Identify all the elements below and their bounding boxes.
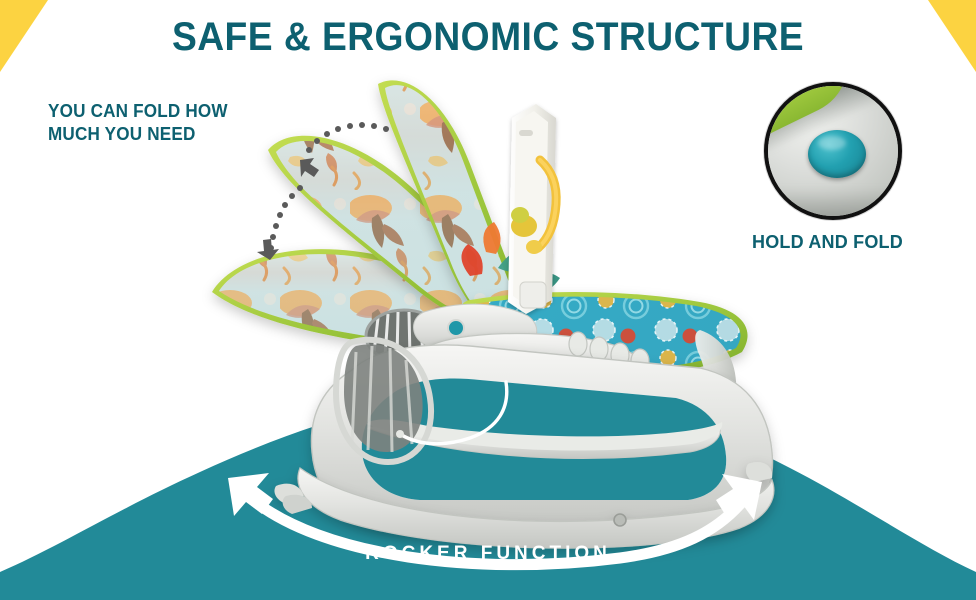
inset-teal-button-icon xyxy=(808,130,866,178)
fold-callout-line1: YOU CAN FOLD HOW xyxy=(48,100,295,123)
hold-and-fold-callout: HOLD AND FOLD xyxy=(752,232,976,253)
inset-bottom-shade xyxy=(764,188,902,220)
fold-callout-line2: MUCH YOU NEED xyxy=(48,123,295,146)
hold-and-fold-inset xyxy=(764,82,902,220)
fold-callout: YOU CAN FOLD HOW MUCH YOU NEED xyxy=(48,100,295,146)
rocker-function-label: ROCKER FUNCTION xyxy=(0,543,976,565)
fold-arrow-lower-icon xyxy=(257,185,303,260)
inset-button-gloss xyxy=(818,136,846,150)
fold-arrow-upper-icon xyxy=(300,122,389,177)
infographic-canvas: SAFE & ERGONOMIC STRUCTURE xyxy=(0,0,976,600)
